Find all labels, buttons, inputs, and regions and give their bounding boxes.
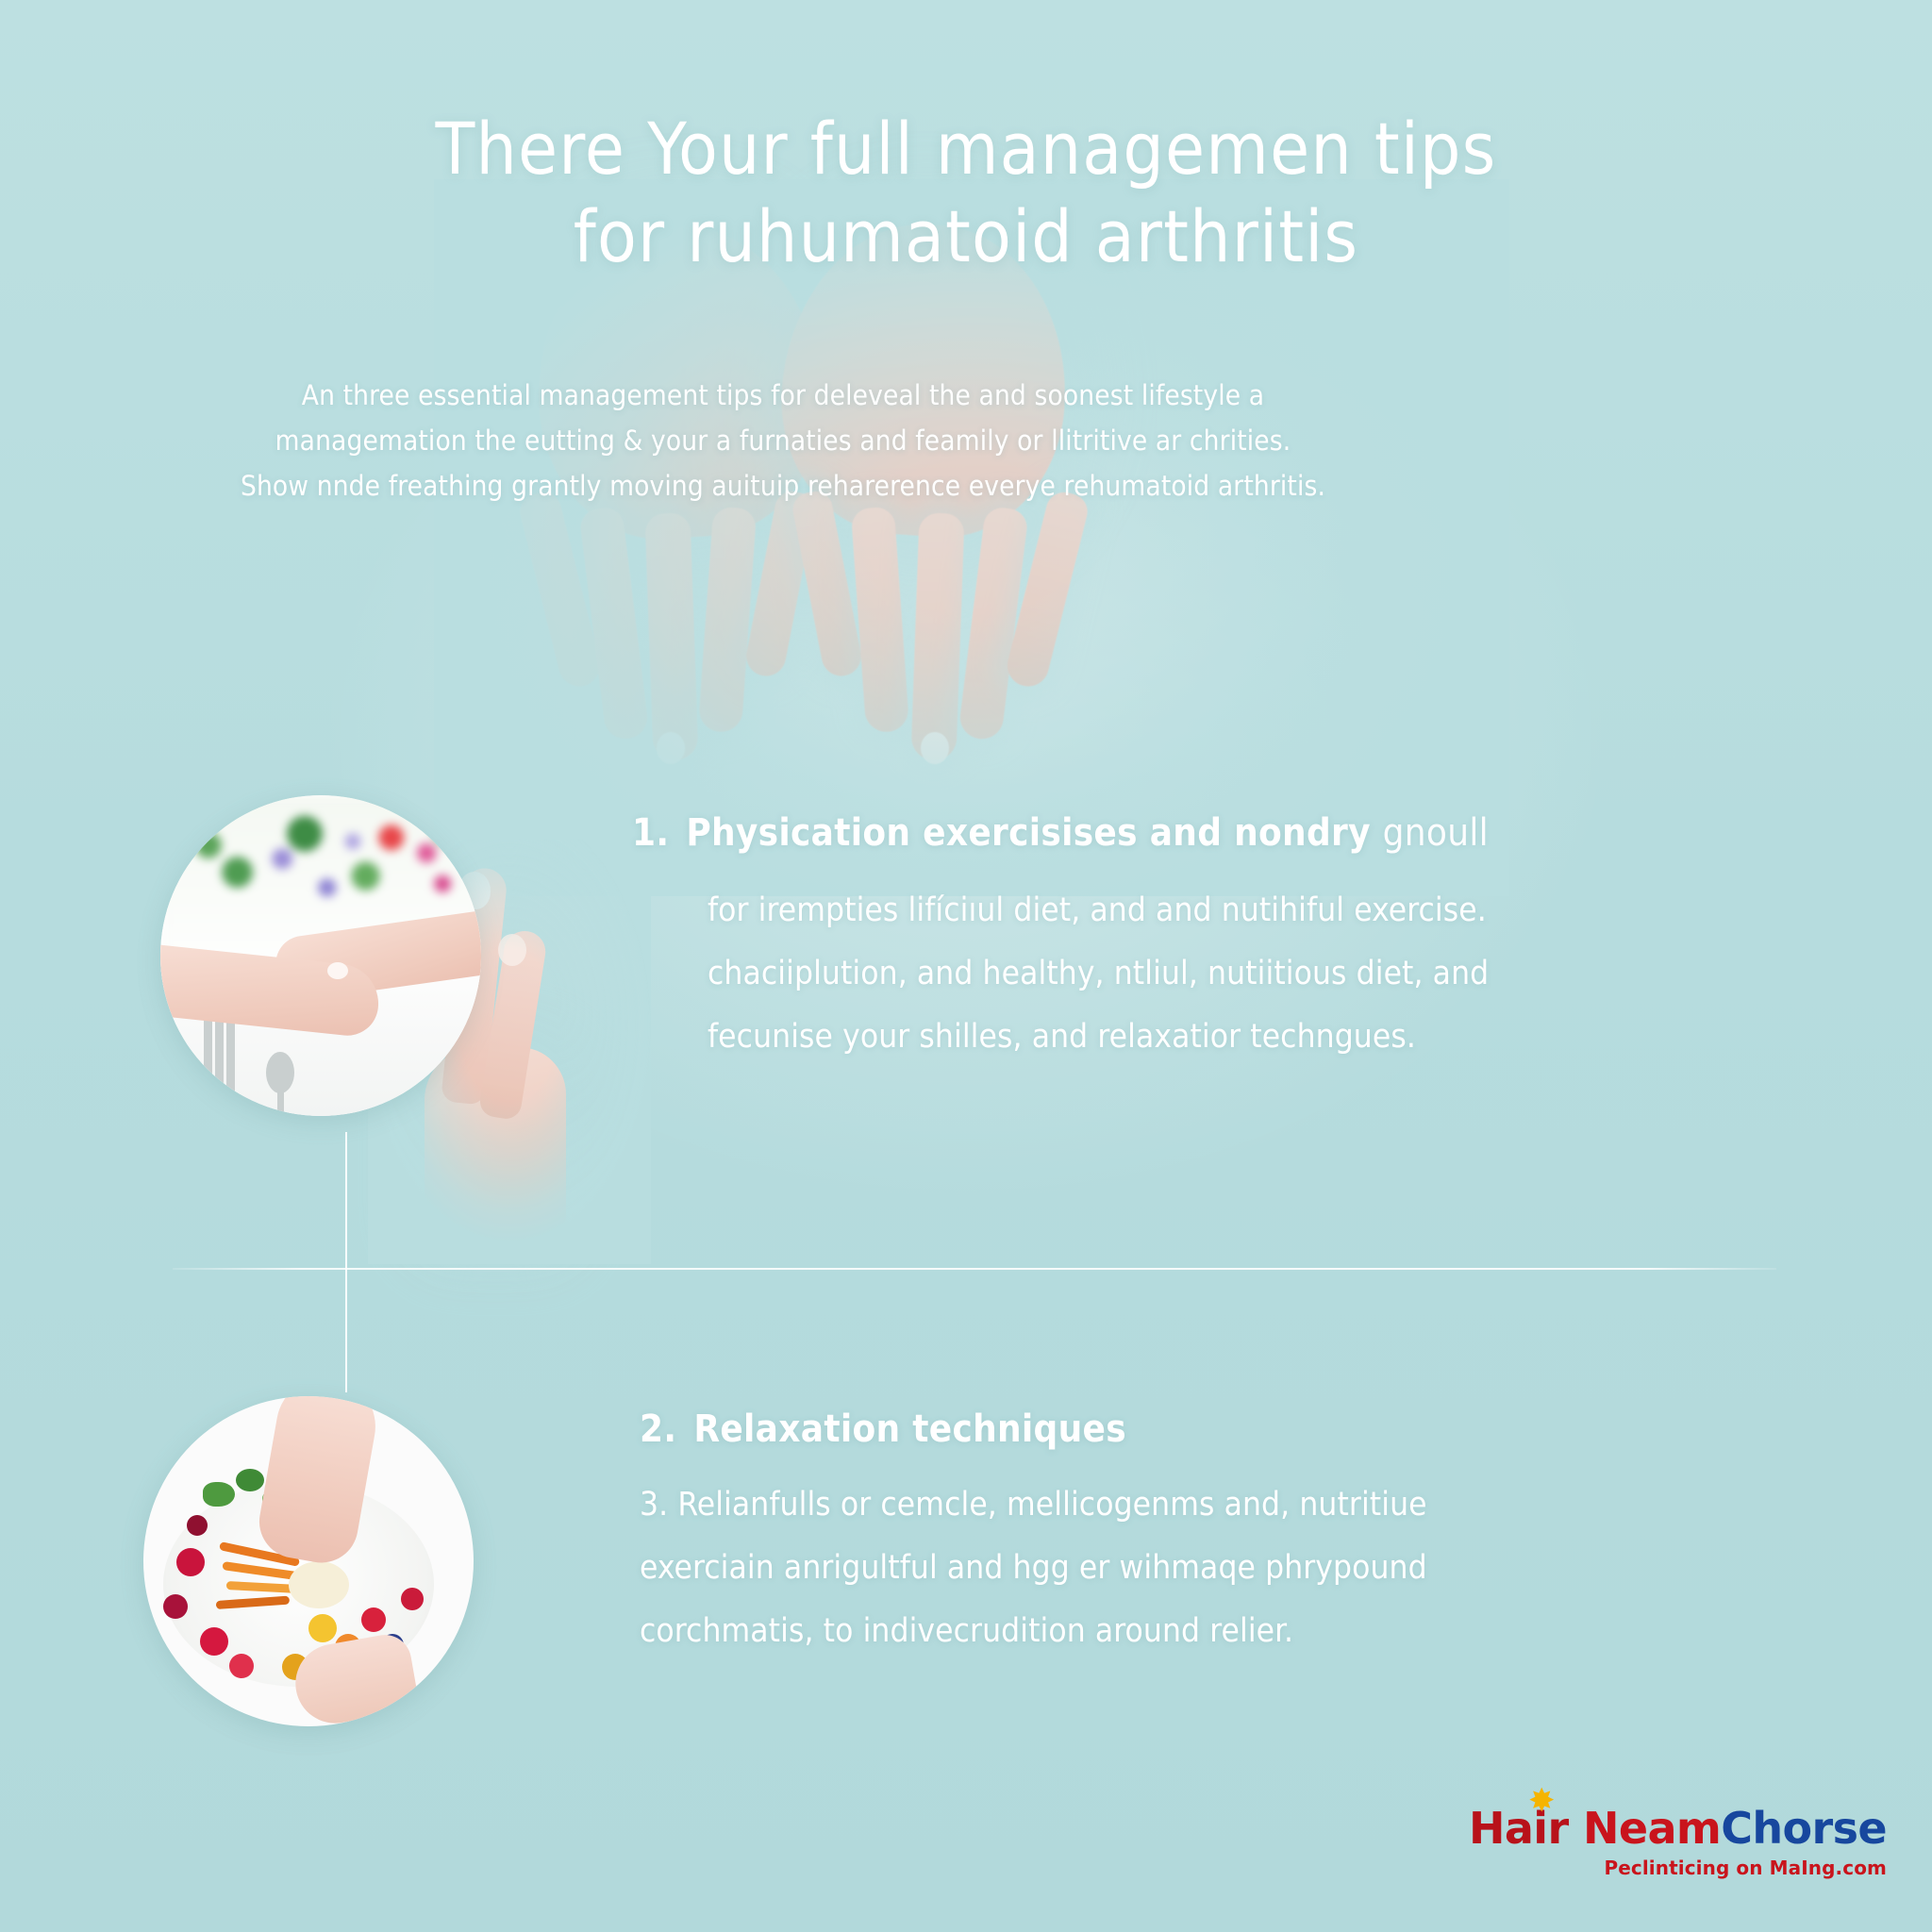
connector-stem-bottom bbox=[345, 1270, 347, 1392]
section-2-body-line-2: exerciain anrigultful and hgg er wihmaqe… bbox=[640, 1537, 1592, 1600]
section-2-heading: 2.Relaxation techniques bbox=[640, 1407, 1592, 1451]
section-divider bbox=[173, 1268, 1776, 1270]
section-1-body: for irempties lifíciıul diet, and and nu… bbox=[708, 879, 1583, 1070]
intro-paragraph: An three essential management tips for d… bbox=[170, 374, 1396, 508]
section-1-heading-bold: Physication exercisises and nondry bbox=[686, 811, 1371, 855]
section-2: 2.Relaxation techniques 3. Relianfulls o… bbox=[640, 1407, 1592, 1664]
section-2-body-line-3: corchmatis, to indivecrudition around re… bbox=[640, 1600, 1592, 1663]
section-2-body: 3. Relianfulls or cemcle, mellicogenms a… bbox=[640, 1474, 1592, 1664]
page-title: There Your full managemen tips for ruhum… bbox=[0, 106, 1932, 280]
section-1-body-line-1: for irempties lifíciıul diet, and and nu… bbox=[708, 879, 1583, 942]
intro-line-1: An three essential management tips for d… bbox=[170, 374, 1396, 419]
intro-line-3: Show nnde freathing grantly moving auitu… bbox=[170, 464, 1396, 509]
section-1-circle-image bbox=[160, 795, 481, 1116]
logo-word-neam: Neam bbox=[1569, 1803, 1722, 1854]
connector-stem-top bbox=[345, 1132, 347, 1270]
section-1-heading: 1.Physication exercisises and nondry gno… bbox=[632, 811, 1583, 855]
section-2-circle-image bbox=[143, 1396, 474, 1726]
hero-hands-image bbox=[472, 208, 1472, 868]
section-1-body-line-2: chaciiplution, and healthy, ntliul, nuti… bbox=[708, 942, 1583, 1006]
infographic-poster: There Your full managemen tips for ruhum… bbox=[0, 0, 1932, 1932]
intro-line-2: managemation the eutting & your a furnat… bbox=[170, 419, 1396, 464]
section-1: 1.Physication exercisises and nondry gno… bbox=[640, 811, 1583, 1070]
section-1-body-line-3: fecunise your shilles, and relaxatior te… bbox=[708, 1006, 1583, 1069]
brand-logo[interactable]: ✸Hair NeamChorse Peclinticing on MaIng.c… bbox=[1469, 1807, 1887, 1877]
section-2-number: 2. bbox=[640, 1407, 676, 1451]
section-1-number: 1. bbox=[632, 811, 669, 855]
logo-wordmark: ✸Hair NeamChorse bbox=[1469, 1807, 1887, 1850]
section-2-heading-bold: Relaxation techniques bbox=[693, 1407, 1126, 1451]
section-1-heading-tail: gnoull bbox=[1383, 811, 1489, 855]
logo-tagline: Peclinticing on MaIng.com bbox=[1469, 1858, 1887, 1877]
star-icon: ✸ bbox=[1527, 1787, 1556, 1815]
section-2-body-line-1: 3. Relianfulls or cemcle, mellicogenms a… bbox=[640, 1474, 1592, 1537]
logo-word-chorse: Chorse bbox=[1721, 1803, 1887, 1854]
